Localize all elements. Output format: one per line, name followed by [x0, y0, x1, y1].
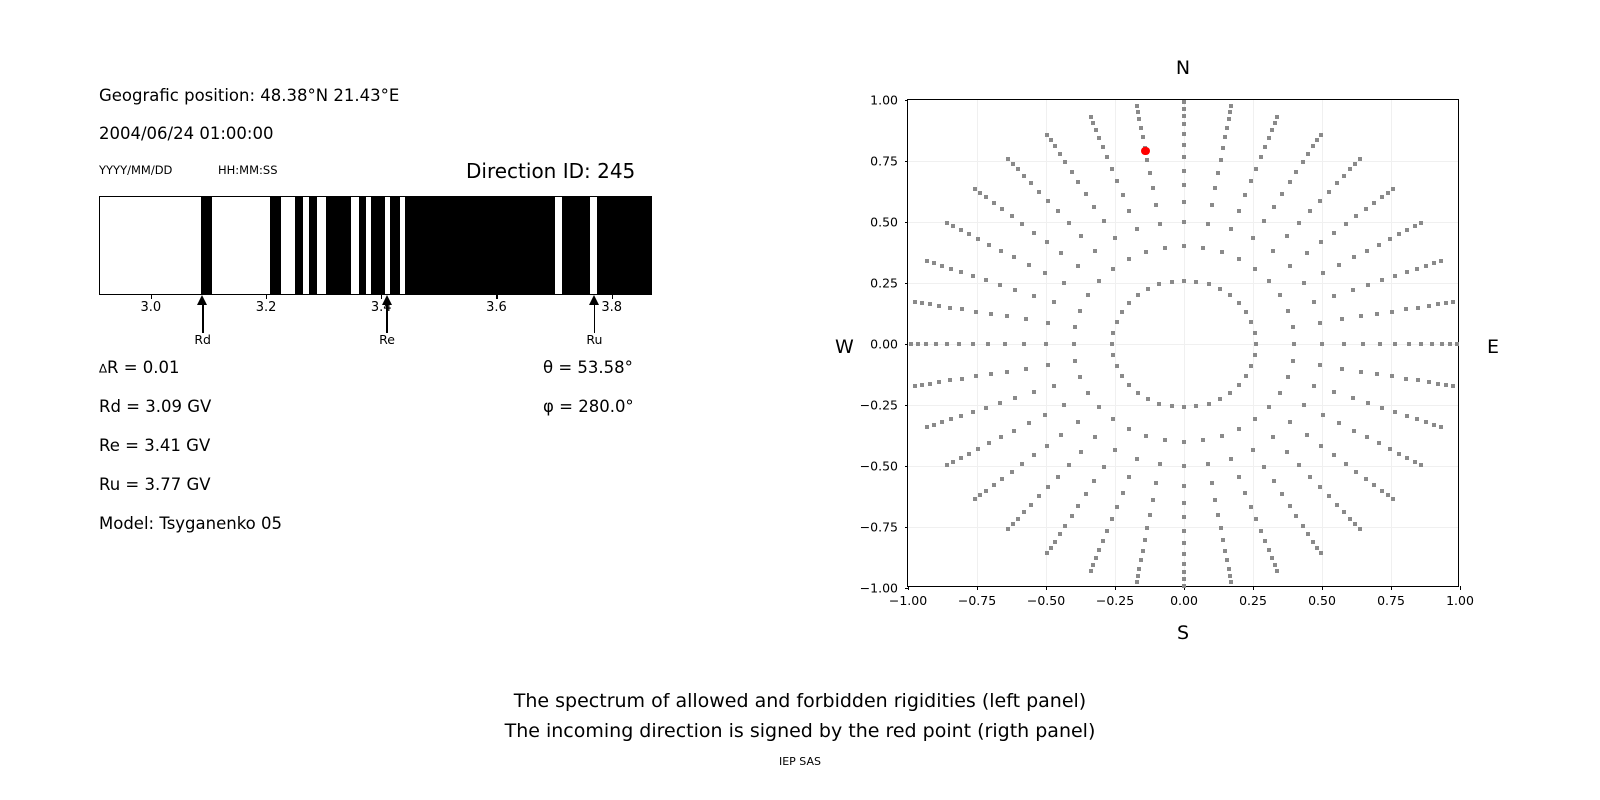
direction-point	[1059, 433, 1063, 437]
direction-point	[1227, 117, 1231, 121]
direction-point	[1405, 228, 1409, 232]
direction-point	[1223, 549, 1227, 553]
direction-point	[1093, 249, 1097, 253]
direction-point	[1451, 384, 1455, 388]
y-axis-tick-label: −1.00	[860, 581, 898, 596]
direction-point	[1052, 384, 1056, 388]
direction-point	[1182, 183, 1186, 187]
direction-point	[1259, 155, 1263, 159]
direction-point	[1361, 342, 1365, 346]
direction-point	[1267, 405, 1271, 409]
direction-point	[1078, 375, 1082, 379]
direction-point	[1218, 287, 1222, 291]
geographic-position-label: Geografic position: 48.38°N 21.43°E	[99, 86, 399, 105]
forbidden-band	[309, 197, 318, 294]
direction-point	[949, 417, 953, 421]
direction-point	[1229, 227, 1233, 231]
direction-point	[1292, 342, 1296, 346]
direction-point	[1037, 494, 1041, 498]
direction-point	[1405, 456, 1409, 460]
compass-north-label: N	[1176, 57, 1190, 79]
direction-point	[1306, 152, 1310, 156]
y-axis-tick	[905, 344, 909, 345]
direction-point	[1110, 517, 1114, 521]
direction-point	[1432, 261, 1436, 265]
direction-point	[1271, 249, 1275, 253]
direction-point	[928, 382, 932, 386]
direction-point	[1053, 144, 1057, 148]
direction-point	[984, 195, 988, 199]
direction-point	[1157, 402, 1161, 406]
direction-point	[1024, 317, 1028, 321]
direction-point	[1397, 452, 1401, 456]
ru-value-label: Ru = 3.77 GV	[99, 475, 211, 494]
direction-point	[1097, 548, 1101, 552]
direction-point	[1351, 288, 1355, 292]
direction-point	[1444, 301, 1448, 305]
direction-point	[1005, 370, 1009, 374]
direction-point	[1022, 510, 1026, 514]
direction-point	[1182, 220, 1186, 224]
direction-point	[1136, 293, 1140, 297]
direction-point	[1375, 312, 1379, 316]
direction-point	[945, 342, 949, 346]
date-format-hint: YYYY/MM/DD	[99, 163, 172, 177]
direction-point	[1101, 145, 1105, 149]
direction-point	[1092, 479, 1096, 483]
direction-point	[960, 377, 964, 381]
direction-point	[1404, 307, 1408, 311]
direction-point	[957, 342, 961, 346]
direction-point	[1006, 527, 1010, 531]
gridline-vertical	[977, 100, 978, 586]
direction-point	[1086, 293, 1090, 297]
gridline-horizontal	[908, 161, 1458, 162]
direction-point	[1359, 314, 1363, 318]
direction-point	[1115, 320, 1119, 324]
x-axis-tick-label: −0.75	[958, 593, 996, 608]
spectrum-bar-wrapper	[99, 196, 652, 295]
direction-point	[1010, 470, 1014, 474]
direction-point	[1288, 264, 1292, 268]
delta-r-label: ∆R = 0.01	[99, 358, 180, 377]
direction-point	[1254, 167, 1258, 171]
direction-point	[1086, 391, 1090, 395]
gridline-horizontal	[908, 344, 1458, 345]
marker-label: Re	[365, 332, 409, 347]
direction-point	[1285, 234, 1289, 238]
direction-point	[973, 497, 977, 501]
y-axis-tick	[905, 100, 909, 101]
direction-point	[1072, 342, 1076, 346]
direction-point	[1294, 514, 1298, 518]
direction-point	[945, 463, 949, 467]
direction-scatter-plot: −1.00−1.00−0.75−0.75−0.50−0.50−0.25−0.25…	[907, 99, 1459, 587]
direction-point	[916, 342, 920, 346]
direction-point	[1263, 145, 1267, 149]
direction-point	[1115, 505, 1119, 509]
direction-point	[1424, 264, 1428, 268]
direction-point	[1259, 529, 1263, 533]
rigidity-axis: 3.03.23.43.63.8RdReRu	[99, 295, 652, 355]
x-axis-tick-label: 0.25	[1239, 593, 1267, 608]
direction-point	[1302, 281, 1306, 285]
direction-point	[1337, 421, 1341, 425]
direction-point	[992, 483, 996, 487]
forbidden-band	[295, 197, 303, 294]
gridline-vertical	[1391, 100, 1392, 586]
direction-point	[1353, 162, 1357, 166]
direction-point	[1237, 427, 1241, 431]
direction-point	[1305, 251, 1309, 255]
direction-point	[1121, 491, 1125, 495]
direction-point	[992, 201, 996, 205]
direction-point	[1151, 186, 1155, 190]
direction-point	[1027, 421, 1031, 425]
direction-point	[1319, 133, 1323, 137]
direction-point	[1229, 104, 1233, 108]
direction-point	[945, 221, 949, 225]
rigidity-spectrum-bar	[99, 196, 652, 295]
direction-point	[1113, 236, 1117, 240]
y-axis-tick	[905, 466, 909, 467]
direction-point	[1377, 441, 1381, 445]
direction-point	[1243, 193, 1247, 197]
direction-point	[1335, 181, 1339, 185]
direction-point	[1213, 186, 1217, 190]
direction-point	[1146, 397, 1150, 401]
direction-point	[1079, 234, 1083, 238]
direction-point	[998, 401, 1002, 405]
direction-point	[1352, 255, 1356, 259]
direction-point	[1386, 493, 1390, 497]
direction-point	[1288, 180, 1292, 184]
direction-point	[1127, 427, 1131, 431]
direction-point	[1182, 552, 1186, 556]
direction-point	[1216, 513, 1220, 517]
direction-point	[1228, 293, 1232, 297]
direction-point	[1013, 396, 1017, 400]
direction-point	[976, 447, 980, 451]
direction-point	[959, 270, 963, 274]
direction-point	[920, 301, 924, 305]
direction-point	[959, 456, 963, 460]
direction-point	[1076, 264, 1080, 268]
direction-point	[1270, 556, 1274, 560]
direction-point	[1182, 100, 1186, 104]
direction-point	[1319, 240, 1323, 244]
direction-point	[987, 243, 991, 247]
direction-point	[1225, 558, 1229, 562]
direction-point	[1011, 522, 1015, 526]
direction-point	[1444, 383, 1448, 387]
direction-point	[1101, 539, 1105, 543]
direction-point	[1427, 380, 1431, 384]
direction-point	[1359, 370, 1363, 374]
direction-point	[1163, 246, 1167, 250]
direction-point	[1151, 498, 1155, 502]
forbidden-band	[405, 197, 555, 294]
direction-point	[1113, 448, 1117, 452]
direction-point	[1046, 321, 1050, 325]
direction-point	[1063, 160, 1067, 164]
direction-point	[989, 312, 993, 316]
direction-point	[1244, 310, 1248, 314]
direction-point	[1045, 133, 1049, 137]
direction-point	[1006, 157, 1010, 161]
direction-point	[1182, 122, 1186, 126]
direction-point	[1228, 110, 1232, 114]
direction-point	[928, 302, 932, 306]
direction-point	[1010, 214, 1014, 218]
direction-point	[1272, 479, 1276, 483]
direction-point	[1270, 128, 1274, 132]
direction-point	[913, 384, 917, 388]
direction-point	[1056, 209, 1060, 213]
direction-point	[1032, 294, 1036, 298]
direction-point	[1170, 280, 1174, 284]
direction-point	[940, 420, 944, 424]
direction-point	[1182, 132, 1186, 136]
footer-credit: IEP SAS	[0, 755, 1600, 768]
direction-point	[1102, 465, 1106, 469]
direction-point	[1020, 222, 1024, 226]
direction-point	[1358, 157, 1362, 161]
direction-point	[1228, 574, 1232, 578]
direction-point	[1000, 207, 1004, 211]
direction-point	[1206, 462, 1210, 466]
direction-point	[1076, 504, 1080, 508]
direction-point	[1221, 538, 1225, 542]
x-axis-tick-label: 0.50	[1308, 593, 1336, 608]
direction-point	[924, 342, 928, 346]
direction-point	[999, 249, 1003, 253]
x-axis-tick	[1253, 586, 1254, 590]
y-axis-tick-label: 0.50	[870, 215, 898, 230]
direction-point	[974, 374, 978, 378]
marker-shaft	[202, 303, 204, 333]
direction-point	[1182, 562, 1186, 566]
direction-point	[1249, 505, 1253, 509]
direction-point	[984, 406, 988, 410]
direction-point	[1321, 413, 1325, 417]
direction-point	[1262, 219, 1266, 223]
direction-point	[1115, 364, 1119, 368]
direction-point	[1267, 136, 1271, 140]
direction-point	[1227, 567, 1231, 571]
direction-point	[1451, 300, 1455, 304]
direction-point	[1404, 377, 1408, 381]
direction-point	[1249, 320, 1253, 324]
figure-caption: The spectrum of allowed and forbidden ri…	[0, 686, 1600, 746]
direction-point	[974, 310, 978, 314]
direction-point	[1158, 222, 1162, 226]
x-axis-tick-label: −0.25	[1096, 593, 1134, 608]
direction-point	[1154, 203, 1158, 207]
direction-point	[1386, 191, 1390, 195]
direction-point	[1340, 367, 1344, 371]
direction-point	[1311, 540, 1315, 544]
direction-point	[1127, 209, 1131, 213]
direction-point	[1110, 342, 1114, 346]
x-axis-tick	[977, 586, 978, 590]
direction-point	[1094, 556, 1098, 560]
direction-point	[1344, 222, 1348, 226]
y-axis-tick-label: 1.00	[870, 93, 898, 108]
direction-point	[1121, 193, 1125, 197]
direction-point	[1089, 569, 1093, 573]
forbidden-band	[562, 197, 590, 294]
direction-point	[1213, 498, 1217, 502]
y-axis-tick-label: 0.25	[870, 276, 898, 291]
direction-point	[1111, 353, 1115, 357]
direction-point	[1084, 192, 1088, 196]
forbidden-band	[390, 197, 400, 294]
direction-point	[1207, 402, 1211, 406]
direction-point	[1182, 107, 1186, 111]
forbidden-band	[371, 197, 385, 294]
direction-point	[1243, 491, 1247, 495]
direction-point	[1424, 420, 1428, 424]
direction-point	[987, 441, 991, 445]
direction-point	[1253, 417, 1257, 421]
direction-point	[1337, 263, 1341, 267]
direction-point	[1311, 144, 1315, 148]
direction-point	[1364, 207, 1368, 211]
direction-point	[948, 306, 952, 310]
direction-point	[1294, 170, 1298, 174]
marker-label: Ru	[572, 332, 616, 347]
direction-point	[1301, 160, 1305, 164]
direction-point	[1091, 563, 1095, 567]
direction-point	[1365, 249, 1369, 253]
forbidden-band	[597, 197, 652, 294]
direction-point	[1037, 190, 1041, 194]
axis-tick-label: 3.6	[486, 300, 507, 315]
direction-point	[1391, 497, 1395, 501]
direction-point	[1228, 391, 1232, 395]
direction-point	[1254, 517, 1258, 521]
direction-point	[951, 224, 955, 228]
direction-point	[1012, 429, 1016, 433]
direction-point	[1070, 514, 1074, 518]
direction-point	[1319, 551, 1323, 555]
direction-point	[1045, 444, 1049, 448]
model-label: Model: Tsyganenko 05	[99, 514, 282, 533]
direction-point	[1253, 267, 1257, 271]
direction-point	[1321, 271, 1325, 275]
direction-point	[1318, 363, 1322, 367]
direction-point	[1063, 524, 1067, 528]
direction-point	[1273, 121, 1277, 125]
direction-point	[1297, 463, 1301, 467]
direction-point	[1219, 526, 1223, 530]
theta-label: θ = 53.58°	[543, 358, 633, 377]
direction-point	[1348, 167, 1352, 171]
direction-point	[984, 489, 988, 493]
direction-point	[1327, 190, 1331, 194]
direction-point	[1221, 146, 1225, 150]
direction-point	[1229, 580, 1233, 584]
direction-point	[1432, 423, 1436, 427]
direction-point	[1045, 551, 1049, 555]
direction-point	[1272, 205, 1276, 209]
direction-point	[1439, 259, 1443, 263]
x-axis-tick	[1046, 586, 1047, 590]
direction-point	[1182, 464, 1186, 468]
direction-point	[1380, 406, 1384, 410]
direction-point	[1148, 171, 1152, 175]
direction-point	[1262, 465, 1266, 469]
forbidden-band	[270, 197, 282, 294]
direction-point	[949, 267, 953, 271]
direction-point	[1419, 342, 1423, 346]
direction-point	[1049, 138, 1053, 142]
direction-point	[1146, 287, 1150, 291]
direction-point	[1405, 414, 1409, 418]
direction-point	[1136, 391, 1140, 395]
direction-point	[1220, 250, 1224, 254]
direction-point	[1413, 460, 1417, 464]
direction-point	[1375, 372, 1379, 376]
direction-point	[1397, 232, 1401, 236]
direction-point	[1032, 453, 1036, 457]
x-axis-tick	[1115, 586, 1116, 590]
direction-point	[1318, 199, 1322, 203]
direction-point	[1053, 540, 1057, 544]
rigidity-spectrum-panel: Geografic position: 48.38°N 21.43°E 2004…	[0, 0, 760, 700]
axis-tick	[612, 295, 613, 299]
direction-point	[1182, 279, 1186, 283]
direction-point	[1115, 179, 1119, 183]
direction-point	[1011, 162, 1015, 166]
rd-value-label: Rd = 3.09 GV	[99, 397, 211, 416]
direction-point	[1020, 462, 1024, 466]
direction-point	[1182, 440, 1186, 444]
direction-point	[1388, 447, 1392, 451]
direction-point	[1358, 527, 1362, 531]
caption-line-1: The spectrum of allowed and forbidden ri…	[0, 686, 1600, 716]
direction-point	[1278, 293, 1282, 297]
direction-point	[1267, 548, 1271, 552]
direction-point	[978, 191, 982, 195]
x-axis-tick-label: 1.00	[1446, 593, 1474, 608]
axis-tick-label: 3.0	[141, 300, 162, 315]
direction-point	[1273, 563, 1277, 567]
direction-point	[1251, 236, 1255, 240]
direction-point	[1145, 526, 1149, 530]
direction-point	[1127, 383, 1131, 387]
direction-point	[1353, 522, 1357, 526]
direction-point	[1182, 200, 1186, 204]
direction-point	[1280, 492, 1284, 496]
direction-point	[937, 304, 941, 308]
direction-point	[971, 274, 975, 278]
direction-point	[1182, 169, 1186, 173]
direction-point	[967, 452, 971, 456]
direction-point	[1436, 302, 1440, 306]
direction-point	[1275, 569, 1279, 573]
direction-point	[1372, 483, 1376, 487]
direction-point	[1380, 195, 1384, 199]
direction-point	[1405, 270, 1409, 274]
direction-point	[1144, 250, 1148, 254]
direction-point	[1288, 504, 1292, 508]
direction-point	[1342, 174, 1346, 178]
y-axis-tick	[905, 527, 909, 528]
direction-point	[1154, 481, 1158, 485]
direction-point	[1201, 246, 1205, 250]
